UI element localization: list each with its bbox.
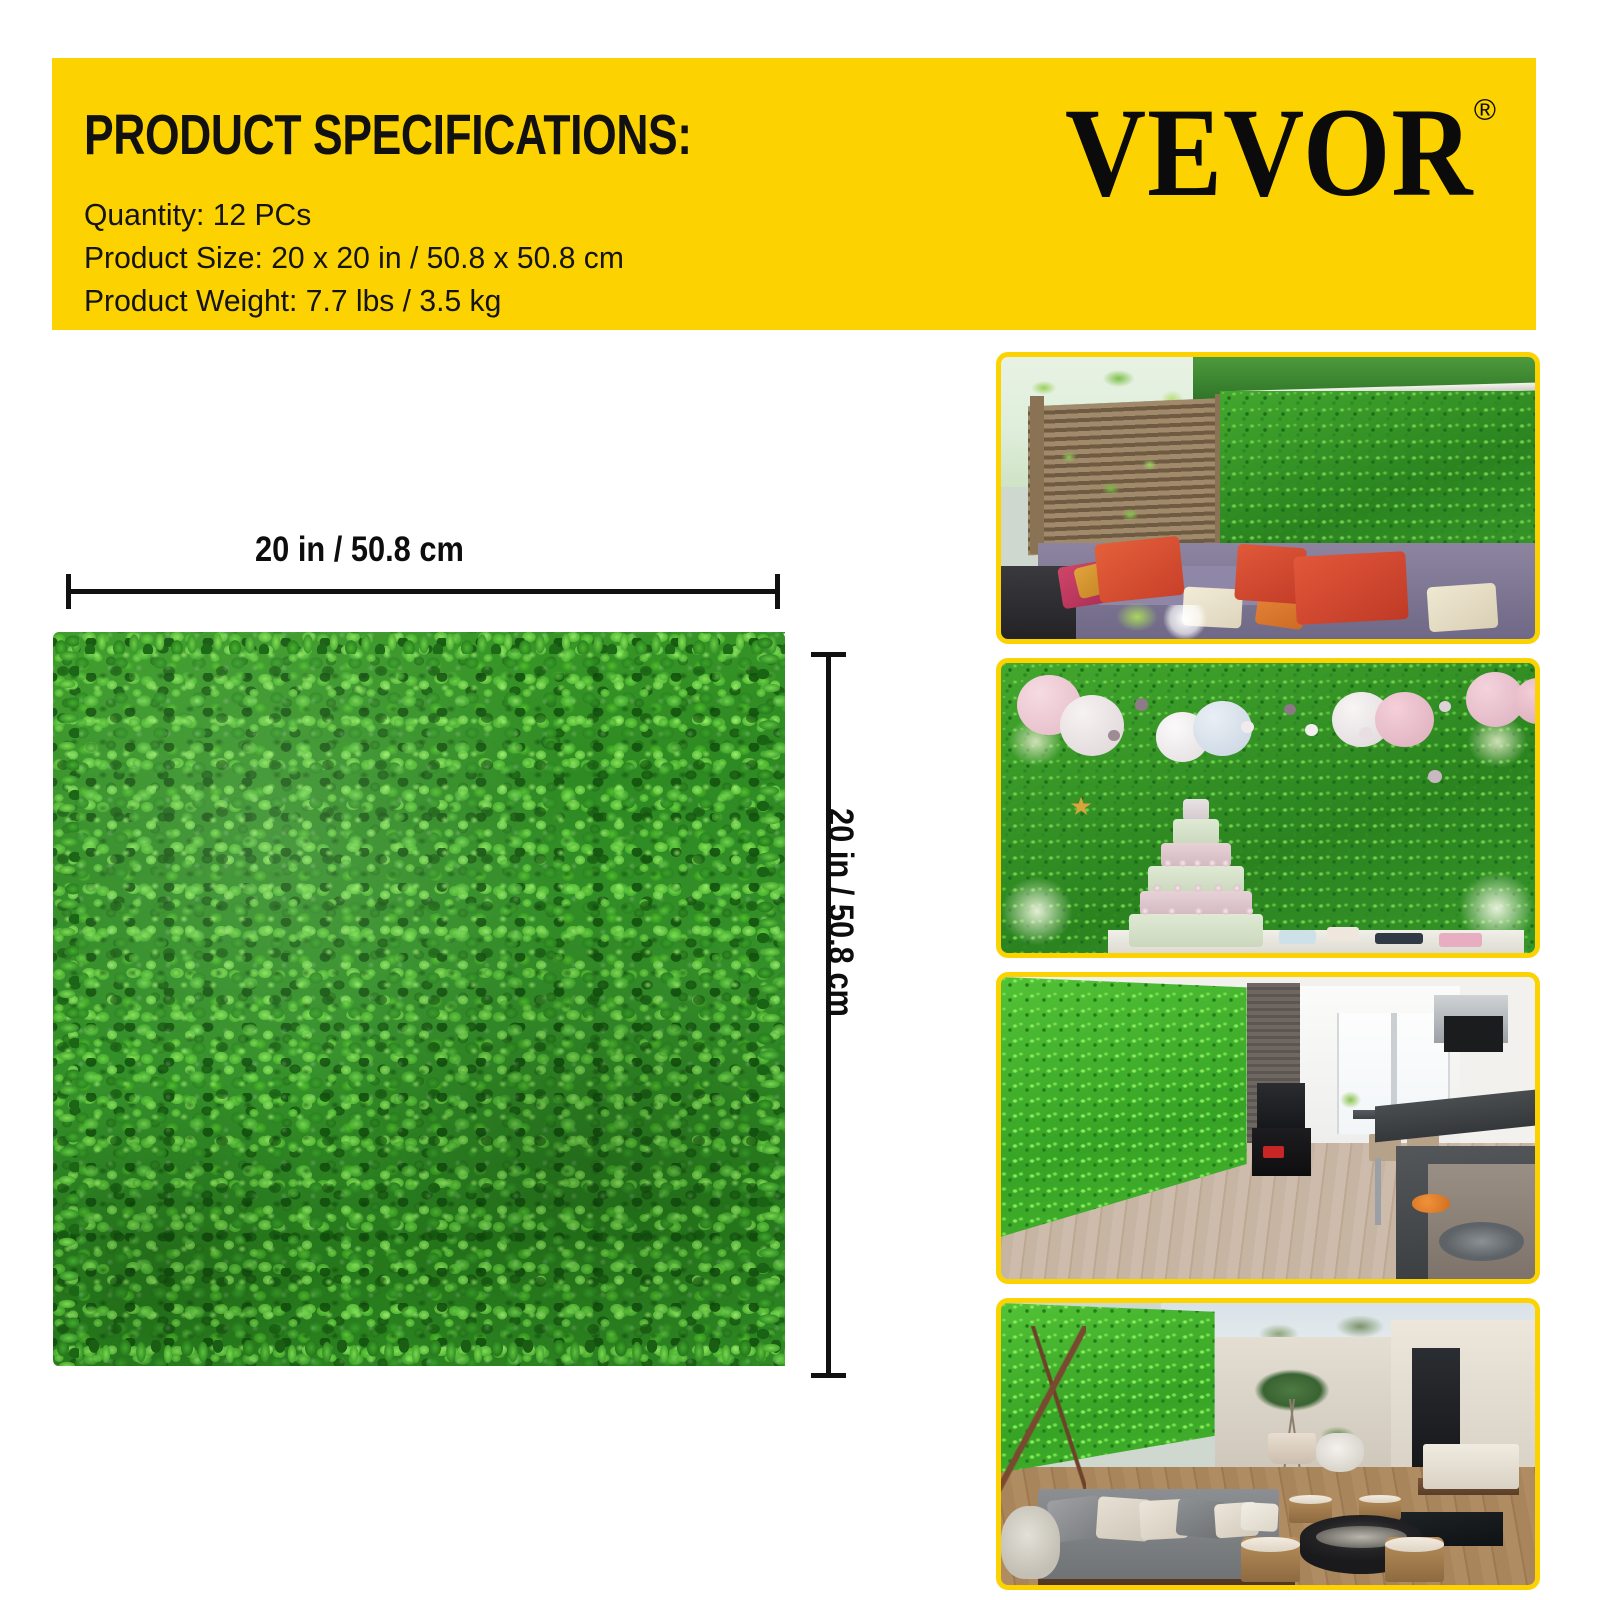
small-potted-plant bbox=[1113, 602, 1161, 639]
spec-product-size: Product Size: 20 x 20 in / 50.8 x 50.8 c… bbox=[84, 236, 624, 279]
lifestyle-photo-gallery bbox=[996, 352, 1540, 1590]
fruit-bowl bbox=[1412, 1194, 1449, 1212]
hedge-panel-image bbox=[45, 618, 793, 1378]
cake-tier-1 bbox=[1129, 914, 1263, 947]
dessert-plate-1 bbox=[1279, 930, 1316, 945]
foliage-bottom-left bbox=[1001, 860, 1081, 953]
cake-flowers-middle bbox=[1145, 882, 1246, 894]
balloon-small-4 bbox=[1284, 704, 1296, 715]
width-dimension-line bbox=[66, 589, 780, 594]
cake-flowers-bottom bbox=[1129, 905, 1263, 917]
registered-trademark-icon: ® bbox=[1474, 96, 1496, 126]
lifestyle-photo-courtyard bbox=[996, 1298, 1540, 1590]
dessert-tray bbox=[1375, 933, 1423, 945]
cake-tier-6 bbox=[1183, 799, 1210, 820]
pillow-orange-1 bbox=[1094, 536, 1185, 604]
hedge-base-texture bbox=[53, 632, 785, 1366]
lifestyle-photo-interior-kitchen bbox=[996, 972, 1540, 1284]
stump-seat-4 bbox=[1385, 1537, 1444, 1551]
tiered-cake bbox=[1129, 796, 1263, 947]
balloon-small-8 bbox=[1439, 701, 1451, 712]
spec-quantity: Quantity: 12 PCs bbox=[84, 193, 624, 236]
white-planter bbox=[1316, 1433, 1364, 1472]
built-in-oven bbox=[1444, 1016, 1503, 1052]
table-plant bbox=[1337, 1089, 1364, 1116]
spec-product-weight: Product Weight: 7.7 lbs / 3.5 kg bbox=[84, 279, 624, 322]
balloon-white-1 bbox=[1060, 695, 1124, 756]
stump-seat-1 bbox=[1289, 1495, 1332, 1504]
red-accent-object bbox=[1263, 1146, 1284, 1158]
lifestyle-photo-patio bbox=[996, 352, 1540, 644]
width-dimension-cap-left bbox=[66, 574, 71, 609]
dessert-plate-3 bbox=[1439, 933, 1482, 948]
brand-wordmark: VEVOR bbox=[1065, 90, 1474, 217]
hedge-wall bbox=[1220, 391, 1535, 555]
cake-tier-5 bbox=[1173, 819, 1218, 845]
balloon-small-2 bbox=[1108, 730, 1120, 741]
balloon-small-6 bbox=[1359, 727, 1373, 740]
vevor-logo: VEVOR ® bbox=[1065, 90, 1496, 198]
height-dimension-label: 20 in / 50.8 cm bbox=[820, 808, 860, 1017]
cushion-cream-4 bbox=[1241, 1502, 1280, 1532]
stump-seat-3 bbox=[1241, 1537, 1300, 1551]
balloon-pink-2 bbox=[1375, 692, 1434, 747]
balloon-small-1 bbox=[1135, 698, 1149, 711]
height-dimension-cap-top bbox=[811, 652, 846, 657]
hanging-chair-seat bbox=[1268, 1433, 1316, 1464]
leaf-texture-layer-4 bbox=[53, 632, 785, 1366]
stump-stool-4 bbox=[1385, 1537, 1444, 1582]
fence-post-left bbox=[1030, 396, 1044, 554]
stump-seat-2 bbox=[1359, 1495, 1402, 1503]
stump-stool-3 bbox=[1241, 1537, 1300, 1582]
specifications-banner: PRODUCT SPECIFICATIONS: Quantity: 12 PCs… bbox=[52, 58, 1536, 330]
product-diagram: 20 in / 50.8 cm 20 in / 50.8 cm bbox=[0, 340, 960, 1600]
ceramic-urn bbox=[1001, 1506, 1060, 1579]
lounge-chair bbox=[1423, 1444, 1519, 1489]
stool-leg-1 bbox=[1375, 1158, 1381, 1224]
dessert-plate-2 bbox=[1327, 927, 1359, 942]
pillow-orange-3 bbox=[1293, 552, 1409, 625]
lifestyle-photo-party-backdrop bbox=[996, 658, 1540, 958]
page-title: PRODUCT SPECIFICATIONS: bbox=[84, 102, 692, 168]
width-dimension-label: 20 in / 50.8 cm bbox=[255, 530, 464, 570]
television bbox=[1257, 1083, 1305, 1134]
kitchen-sink bbox=[1439, 1222, 1524, 1261]
white-orchid bbox=[1161, 605, 1209, 639]
pillow-cream-2 bbox=[1427, 583, 1499, 633]
height-dimension-cap-bottom bbox=[811, 1373, 846, 1378]
width-dimension-cap-right bbox=[775, 574, 780, 609]
decorative-branch bbox=[1001, 1326, 1086, 1495]
cake-flowers-top bbox=[1159, 857, 1234, 869]
specification-list: Quantity: 12 PCs Product Size: 20 x 20 i… bbox=[84, 193, 641, 322]
climbing-vine bbox=[1044, 436, 1183, 532]
